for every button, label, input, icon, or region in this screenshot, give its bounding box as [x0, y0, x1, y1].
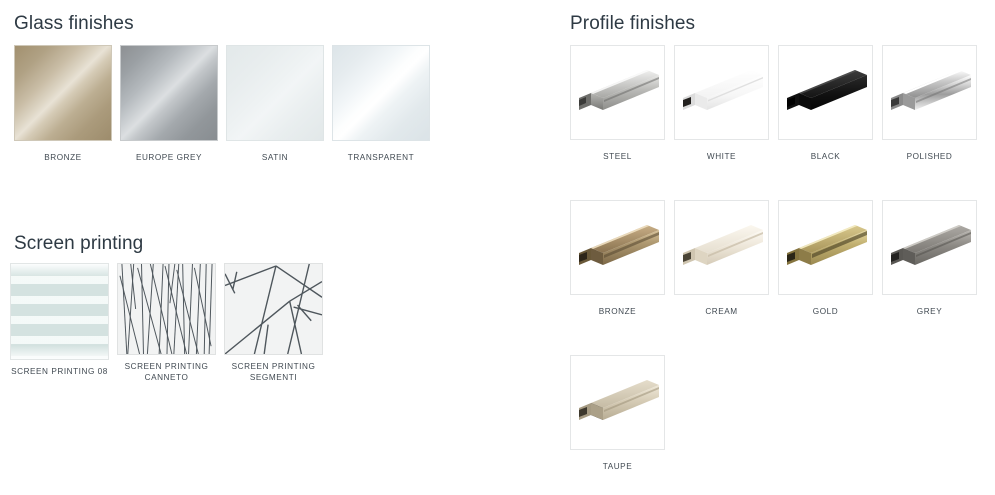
gold-profile-image[interactable] [778, 200, 873, 295]
screen-printing-08-swatch[interactable] [10, 263, 109, 360]
right-column: Profile finishes [560, 0, 995, 495]
screen-printing-heading: Screen printing [14, 233, 143, 255]
screen-printing-canneto-swatch[interactable] [117, 263, 216, 355]
profile-card-black[interactable]: BLACK [778, 45, 873, 162]
profile-card-polished[interactable]: POLISHED [882, 45, 977, 162]
profile-card-bronze[interactable]: BRONZE [570, 200, 665, 317]
screen-printing-label: SCREEN PRINTING CANNETO [117, 361, 216, 383]
glass-swatch-label: SATIN [262, 152, 288, 163]
glass-swatch-label: EUROPE GREY [136, 152, 202, 163]
profile-card-cream[interactable]: CREAM [674, 200, 769, 317]
profile-label: BLACK [811, 151, 841, 162]
left-column: Glass finishes BRONZE EUROPE GREY SATIN … [0, 0, 540, 495]
glass-swatch-label: BRONZE [44, 152, 81, 163]
screen-printing-swatch-segmenti[interactable]: SCREEN PRINTING SEGMENTI [224, 263, 323, 383]
black-profile-image[interactable] [778, 45, 873, 140]
bronze-profile-image[interactable] [570, 200, 665, 295]
screen-printing-segmenti-swatch[interactable] [224, 263, 323, 355]
profile-label: TAUPE [603, 461, 632, 472]
screen-printing-label: SCREEN PRINTING SEGMENTI [224, 361, 323, 383]
polished-profile-image[interactable] [882, 45, 977, 140]
satin-glass-swatch[interactable] [226, 45, 324, 141]
glass-swatch-europe-grey[interactable]: EUROPE GREY [120, 45, 218, 163]
screen-printing-swatch-canneto[interactable]: SCREEN PRINTING CANNETO [117, 263, 216, 383]
profile-row-3: TAUPE [570, 355, 665, 472]
transparent-glass-swatch[interactable] [332, 45, 430, 141]
profile-label: STEEL [603, 151, 632, 162]
profile-label: CREAM [705, 306, 737, 317]
finishes-page: Glass finishes BRONZE EUROPE GREY SATIN … [0, 0, 995, 495]
profile-card-taupe[interactable]: TAUPE [570, 355, 665, 472]
profile-card-steel[interactable]: STEEL [570, 45, 665, 162]
profile-label: WHITE [707, 151, 736, 162]
taupe-profile-image[interactable] [570, 355, 665, 450]
profile-label: BRONZE [599, 306, 636, 317]
glass-swatch-satin[interactable]: SATIN [226, 45, 324, 163]
glass-swatch-label: TRANSPARENT [348, 152, 414, 163]
profile-row-2: BRONZE [570, 200, 977, 317]
profile-card-gold[interactable]: GOLD [778, 200, 873, 317]
profile-label: GREY [917, 306, 942, 317]
glass-swatch-transparent[interactable]: TRANSPARENT [332, 45, 430, 163]
screen-printing-swatch-08[interactable]: SCREEN PRINTING 08 [10, 263, 109, 377]
profile-card-grey[interactable]: GREY [882, 200, 977, 317]
profile-row-1: STEEL [570, 45, 977, 162]
profile-label: GOLD [813, 306, 838, 317]
profile-card-white[interactable]: WHITE [674, 45, 769, 162]
screen-printing-label: SCREEN PRINTING 08 [10, 366, 109, 377]
glass-swatch-row: BRONZE EUROPE GREY SATIN TRANSPARENT [14, 45, 430, 163]
profile-finishes-heading: Profile finishes [570, 13, 695, 35]
europe-grey-glass-swatch[interactable] [120, 45, 218, 141]
bronze-glass-swatch[interactable] [14, 45, 112, 141]
cream-profile-image[interactable] [674, 200, 769, 295]
white-profile-image[interactable] [674, 45, 769, 140]
glass-finishes-heading: Glass finishes [14, 13, 134, 35]
screen-printing-swatch-row: SCREEN PRINTING 08 [10, 263, 323, 383]
glass-swatch-bronze[interactable]: BRONZE [14, 45, 112, 163]
profile-label: POLISHED [907, 151, 953, 162]
steel-profile-image[interactable] [570, 45, 665, 140]
grey-profile-image[interactable] [882, 200, 977, 295]
